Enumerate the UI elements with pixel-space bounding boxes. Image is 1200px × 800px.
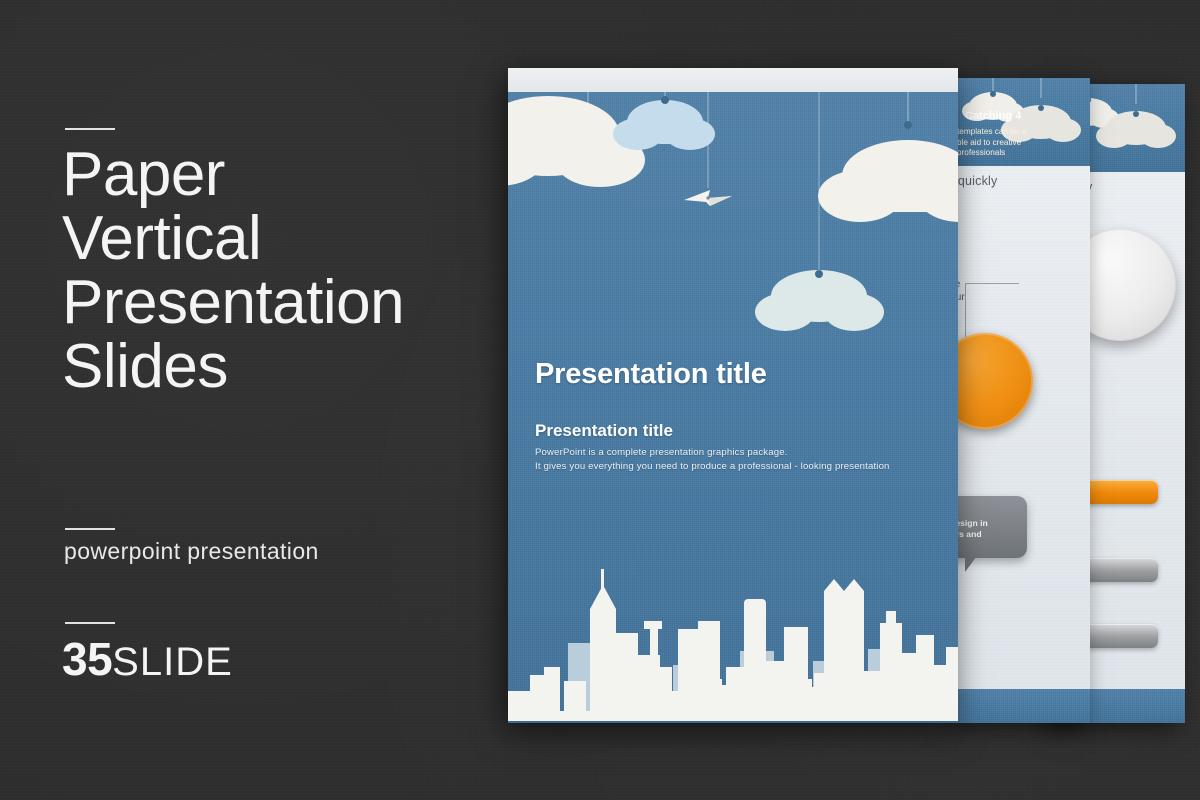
- pin-icon: [1133, 111, 1139, 117]
- slide-count-word: SLIDE: [112, 640, 233, 685]
- main-slide-top-edge: [508, 68, 958, 92]
- slide-count-number: 35: [62, 632, 112, 686]
- paper-airplane-icon: [684, 190, 732, 206]
- cloud-icon: [755, 270, 884, 331]
- main-slide-title: Presentation title: [535, 358, 767, 391]
- main-slide[interactable]: Presentation title Presentation title Po…: [508, 68, 958, 723]
- title-rule: [65, 128, 115, 130]
- back-slide-1-footer: [955, 689, 1090, 723]
- subtitle-rule: [65, 528, 115, 530]
- page-title: Paper Vertical Presentation Slides: [62, 143, 492, 399]
- back-slide-1-orange-badge-title: Catching 4: [965, 110, 1055, 122]
- back-slide-1-orange-badge-body: templates can be a ble aid to creative p…: [957, 127, 1053, 159]
- main-slide-subtitle: Presentation title: [535, 421, 673, 441]
- page-subtitle: powerpoint presentation: [64, 538, 319, 565]
- back-slide-1-speech-bubble-text: he feel of Design in porary colors and: [955, 518, 1039, 540]
- back-slide-1-heading: mplates quickly: [955, 174, 1089, 188]
- main-slide-bottom-edge: [508, 721, 958, 723]
- main-slide-body-text: PowerPoint is a complete presentation gr…: [535, 446, 935, 474]
- left-info-panel: Paper Vertical Presentation Slides power…: [0, 0, 500, 800]
- cloud-icon: [818, 140, 958, 222]
- pin-icon: [990, 91, 996, 97]
- back-slide-1-speech-bubble-tail: [965, 556, 977, 572]
- pin-icon: [661, 96, 669, 104]
- pin-icon: [904, 121, 912, 129]
- pin-icon: [815, 270, 823, 278]
- slide-count-rule: [65, 622, 115, 624]
- cloud-icon: [613, 100, 715, 150]
- slide-count: 35 SLIDE: [62, 632, 233, 686]
- back-slide-1[interactable]: mplates quickly e et dolore consectetur …: [955, 78, 1090, 723]
- city-skyline-icon: [508, 561, 958, 721]
